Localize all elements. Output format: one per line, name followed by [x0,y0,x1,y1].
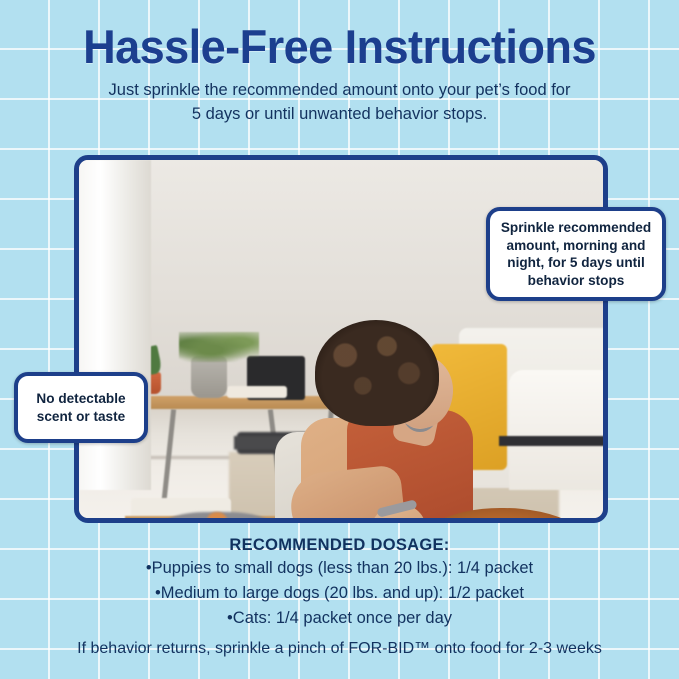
dosage-block: RECOMMENDED DOSAGE: •Puppies to small do… [0,536,679,660]
desk-object [227,386,287,398]
callout-left-text: No detectable scent or taste [24,390,138,425]
subtitle-line-2: 5 days or until unwanted behavior stops. [0,102,679,126]
header-block: Hassle-Free Instructions Just sprinkle t… [0,0,679,126]
subtitle-line-1: Just sprinkle the recommended amount ont… [0,78,679,102]
dosage-item-1: •Puppies to small dogs (less than 20 lbs… [0,555,679,580]
dosage-heading: RECOMMENDED DOSAGE: [0,536,679,555]
sofa-arm [509,370,603,490]
callout-right-text: Sprinkle recommended amount, morning and… [497,219,655,289]
page-subtitle: Just sprinkle the recommended amount ont… [0,72,679,126]
page-title: Hassle-Free Instructions [14,0,666,72]
branch-plant [179,332,259,362]
dosage-item-3: •Cats: 1/4 packet once per day [0,605,679,630]
vase [191,356,227,398]
dosage-footnote: If behavior returns, sprinkle a pinch of… [0,630,679,660]
callout-no-scent: No detectable scent or taste [14,372,148,443]
person-hair [315,320,439,426]
callout-sprinkle-instructions: Sprinkle recommended amount, morning and… [486,207,666,301]
baseboard [499,436,603,446]
dosage-item-2: •Medium to large dogs (20 lbs. and up): … [0,580,679,605]
